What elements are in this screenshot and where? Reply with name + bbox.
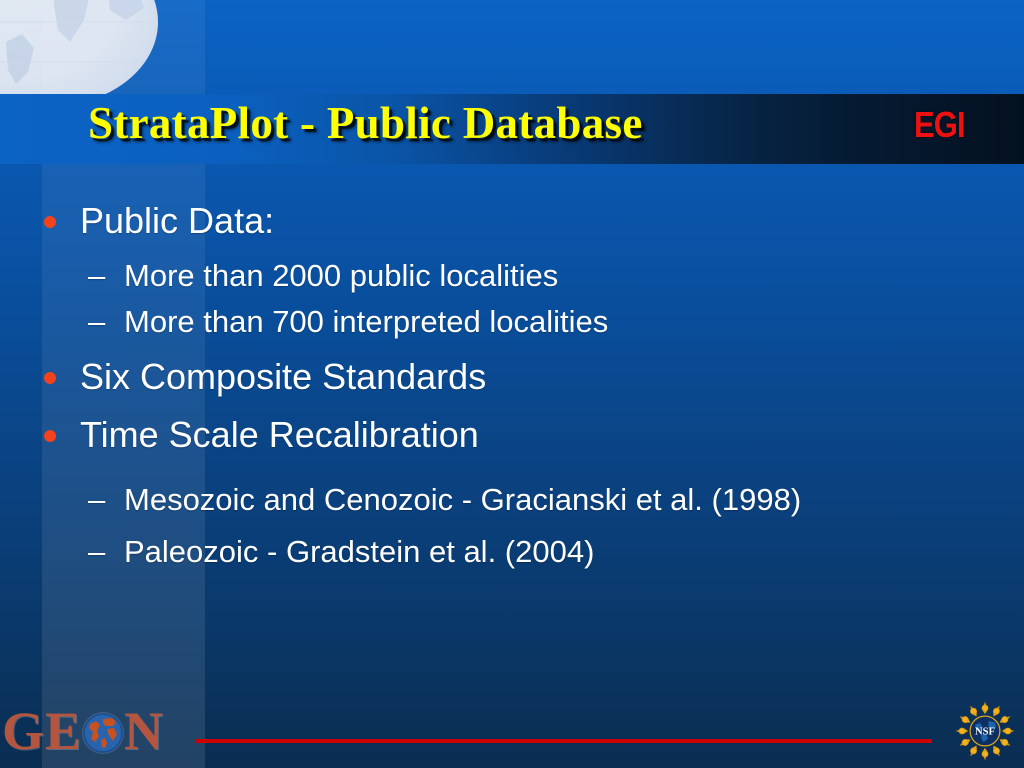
bullet-item: Public Data: [0,196,1024,246]
en-dash-icon: – [88,530,105,574]
geon-globe-icon [83,713,123,753]
geon-logo: GE N [0,700,164,762]
sub-bullet-text: More than 2000 public localities [124,258,558,293]
bullet-item: Time Scale Recalibration [0,410,1024,460]
sub-bullet-item: – More than 2000 public localities [0,254,1024,298]
presentation-slide: StrataPlot - Public Database EGI Public … [0,0,1024,768]
sub-bullet-item: – More than 700 interpreted localities [0,300,1024,344]
bullet-item: Six Composite Standards [0,352,1024,402]
bullet-text: Six Composite Standards [80,356,486,397]
egi-logo: EGI [914,104,965,146]
en-dash-icon: – [88,300,105,344]
sub-bullet-item: – Mesozoic and Cenozoic - Gracianski et … [0,478,1024,522]
geon-logo-suffix: N [124,700,164,762]
slide-body: Public Data: – More than 2000 public loc… [0,196,1024,576]
footer-divider [196,739,932,743]
geon-logo-prefix: GE [2,700,82,762]
bullet-text: Public Data: [80,200,274,241]
sub-bullet-item: – Paleozoic - Gradstein et al. (2004) [0,530,1024,574]
world-globe-decoration [0,0,158,106]
nsf-logo: NSF [954,700,1016,762]
nsf-label: NSF [975,727,995,738]
round-bullet-icon [44,372,56,384]
sub-bullet-text: Paleozoic - Gradstein et al. (2004) [124,534,594,569]
en-dash-icon: – [88,254,105,298]
sub-bullet-text: Mesozoic and Cenozoic - Gracianski et al… [124,482,801,517]
round-bullet-icon [44,430,56,442]
sub-bullet-text: More than 700 interpreted localities [124,304,608,339]
slide-title: StrataPlot - Public Database [88,97,643,149]
en-dash-icon: – [88,478,105,522]
bullet-text: Time Scale Recalibration [80,414,479,455]
spacer [0,468,1024,478]
round-bullet-icon [44,216,56,228]
